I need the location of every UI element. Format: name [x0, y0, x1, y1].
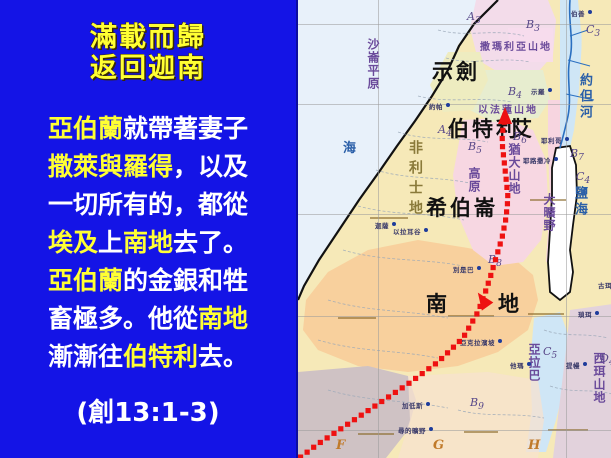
- route-dot: [305, 450, 310, 455]
- route-dot: [451, 345, 456, 350]
- route-dot: [503, 169, 508, 174]
- route-dot: [474, 311, 479, 316]
- route-dot: [504, 177, 509, 182]
- verse-run: 埃及: [48, 228, 98, 257]
- route-dot: [500, 234, 505, 239]
- route-dot: [466, 326, 471, 331]
- verse-line: 亞伯蘭就帶著妻子: [0, 110, 296, 148]
- verse-reference: (創13:1-3): [0, 392, 296, 429]
- route-dot: [488, 273, 493, 278]
- bible-map-panel: 示劍伯特利艾希伯崙南地撒瑪利亞山地以法蓮山地沙崙平原猶大山地大曠野亞拉巴西珥山地…: [296, 0, 611, 458]
- title-line-2: 返回迦南: [0, 53, 296, 84]
- route-dot: [504, 209, 509, 214]
- route-dot: [445, 350, 450, 355]
- scripture-text-panel: 滿載而歸 返回迦南 亞伯蘭就帶著妻子撒萊與羅得，以及一切所有的，都從埃及上南地去…: [0, 0, 296, 458]
- route-dot: [439, 356, 444, 361]
- route-dot: [298, 454, 303, 458]
- route-dot: [359, 413, 364, 418]
- route-dot: [462, 333, 467, 338]
- route-dot: [406, 381, 411, 386]
- verse-line: 埃及上南地去了。: [0, 224, 296, 262]
- route-dot: [365, 408, 370, 413]
- verse-run: ，以及: [173, 152, 248, 181]
- route-dot: [426, 366, 431, 371]
- route-dot: [393, 390, 398, 395]
- verse-run: 一切所有的，都從: [48, 190, 248, 219]
- route-dot: [331, 431, 336, 436]
- route-dot: [433, 361, 438, 366]
- route-dot: [352, 417, 357, 422]
- verse-run: 亞伯蘭: [48, 266, 123, 295]
- route-dot: [505, 193, 510, 198]
- verse-run: 上: [98, 228, 123, 257]
- route-dot: [504, 185, 509, 190]
- verse-line: 撒萊與羅得，以及: [0, 148, 296, 186]
- verse-run: 伯特利: [123, 342, 198, 371]
- route-dot: [413, 376, 418, 381]
- route-dot: [338, 426, 343, 431]
- route-dot: [372, 403, 377, 408]
- route-dot: [325, 435, 330, 440]
- route-dot: [470, 318, 475, 323]
- verse-line: 一切所有的，都從: [0, 186, 296, 224]
- verse-line: 亞伯蘭的金銀和牲: [0, 262, 296, 300]
- verse-line: 漸漸往伯特利去。: [0, 338, 296, 376]
- verse-run: 漸漸往: [48, 342, 123, 371]
- route-arrowhead: [472, 289, 493, 311]
- route-dot: [500, 144, 505, 149]
- verse-run: 南地: [198, 304, 248, 333]
- route-dot: [493, 257, 498, 262]
- route-dot: [505, 201, 510, 206]
- route-dot: [503, 217, 508, 222]
- slide-root: 滿載而歸 返回迦南 亞伯蘭就帶著妻子撒萊與羅得，以及一切所有的，都從埃及上南地去…: [0, 0, 611, 458]
- verse-reference-text: (創13:1-3): [76, 398, 219, 428]
- route-dot: [501, 152, 506, 157]
- route-dot: [502, 160, 507, 165]
- route-dot: [457, 339, 462, 344]
- route-dot: [491, 265, 496, 270]
- verse-run: 去了。: [173, 228, 248, 257]
- verse-run: 撒萊與羅得: [48, 152, 173, 181]
- title-line-1: 滿載而歸: [0, 22, 296, 53]
- verse-run: 去。: [198, 342, 248, 371]
- verse-run: 畜極多。他從: [48, 304, 198, 333]
- route-arrowhead: [498, 107, 512, 124]
- route-dot: [483, 288, 488, 293]
- route-dot: [420, 371, 425, 376]
- route-dot: [379, 399, 384, 404]
- verse-run: 亞伯蘭: [48, 114, 123, 143]
- verse-run: 南地: [123, 228, 173, 257]
- route-dot: [495, 249, 500, 254]
- verse-line: 畜極多。他從南地: [0, 300, 296, 338]
- route-dot: [486, 281, 491, 286]
- route-dot: [501, 225, 506, 230]
- verse-body: 亞伯蘭就帶著妻子撒萊與羅得，以及一切所有的，都從埃及上南地去了。亞伯蘭的金銀和牲…: [0, 110, 296, 376]
- route-dot: [500, 136, 505, 141]
- verse-run: 就帶著妻子: [123, 114, 248, 143]
- verse-run: 的金銀和牲: [123, 266, 248, 295]
- route-dot: [345, 422, 350, 427]
- slide-title: 滿載而歸 返回迦南: [0, 22, 296, 84]
- route-dot: [318, 440, 323, 445]
- route-dot: [400, 385, 405, 390]
- route-dot: [498, 241, 503, 246]
- journey-route-layer: [298, 0, 611, 458]
- route-dot: [311, 445, 316, 450]
- route-dot: [386, 394, 391, 399]
- route-dot: [500, 128, 505, 133]
